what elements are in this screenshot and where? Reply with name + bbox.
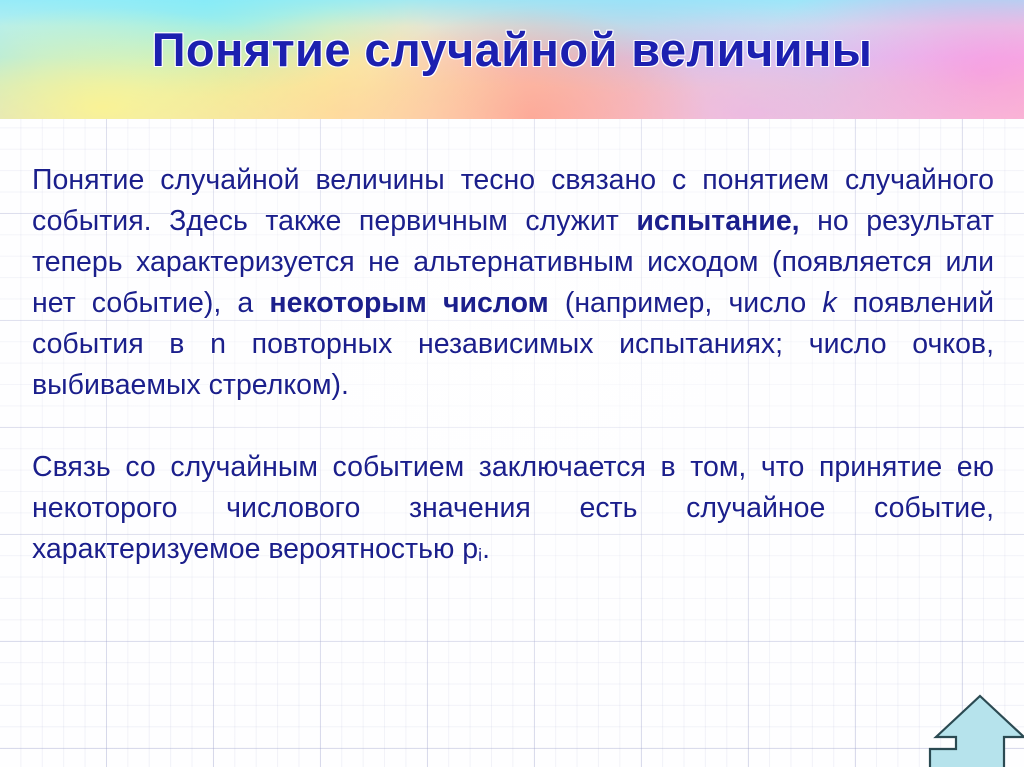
up-arrow-icon xyxy=(920,693,1024,767)
variable-n: n xyxy=(210,328,226,360)
variable-p: p xyxy=(462,533,478,565)
variable-p-subscript-i: i xyxy=(478,545,482,565)
paragraph-1-bold-ispytanie: испытание, xyxy=(636,205,799,237)
paragraph-2-segment-2: . xyxy=(482,533,490,565)
paragraph-2: Связь со случайным событием заключается … xyxy=(32,447,994,573)
page-title: Понятие случайной величины xyxy=(0,22,1024,77)
paragraph-2-segment-1: Связь со случайным событием заключается … xyxy=(32,451,994,565)
variable-k: k xyxy=(822,287,836,319)
paragraph-1: Понятие случайной величины тесно связано… xyxy=(32,160,994,406)
paragraph-1-bold-nekotorym-chislom: некоторым числом xyxy=(269,287,548,319)
slide-body: Понятие случайной величины тесно связано… xyxy=(32,160,994,573)
paragraph-1-segment-3: (например, число xyxy=(549,287,823,319)
slide-root: Понятие случайной величины Понятие случа… xyxy=(0,0,1024,767)
